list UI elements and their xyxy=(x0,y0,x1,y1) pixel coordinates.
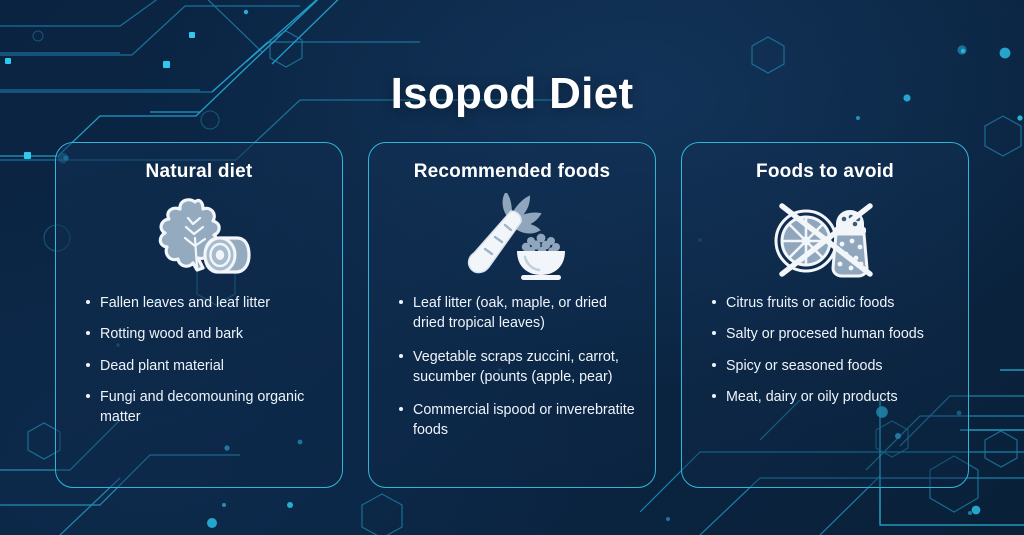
leaf-and-log-icon xyxy=(56,189,342,285)
card-foods-to-avoid: Foods to avoid xyxy=(681,142,969,488)
list-item: Leaf litter (oak, maple, or dried dried … xyxy=(399,293,637,334)
card-title: Foods to avoid xyxy=(682,161,968,183)
list-item: Salty or procesed human foods xyxy=(712,324,950,344)
card-natural-diet: Natural diet xyxy=(55,142,343,488)
list-item: Rotting wood and bark xyxy=(86,324,324,344)
list-item: Meat, dairy or oily products xyxy=(712,387,950,407)
card-bullet-list: Fallen leaves and leaf litter Rotting wo… xyxy=(56,293,342,427)
carrot-and-bowl-icon xyxy=(369,189,655,285)
list-item: Citrus fruits or acidic foods xyxy=(712,293,950,313)
infographic-canvas: Isopod Diet Natural diet xyxy=(0,0,1024,535)
card-title: Natural diet xyxy=(56,161,342,183)
list-item: Dead plant material xyxy=(86,356,324,376)
list-item: Vegetable scraps zuccini, carrot, sucumb… xyxy=(399,347,637,388)
list-item: Commercial ispood or inverebratite foods xyxy=(399,400,637,441)
card-recommended-foods: Recommended foods xyxy=(368,142,656,488)
list-item: Fungi and decomouning organic matter xyxy=(86,387,324,428)
card-bullet-list: Leaf litter (oak, maple, or dried dried … xyxy=(369,293,655,441)
list-item: Spicy or seasoned foods xyxy=(712,356,950,376)
page-title: Isopod Diet xyxy=(0,69,1024,119)
list-item: Fallen leaves and leaf litter xyxy=(86,293,324,313)
card-bullet-list: Citrus fruits or acidic foods Salty or p… xyxy=(682,293,968,407)
card-title: Recommended foods xyxy=(369,161,655,183)
cards-row: Natural diet xyxy=(55,142,969,488)
no-citrus-and-salt-icon xyxy=(682,189,968,285)
